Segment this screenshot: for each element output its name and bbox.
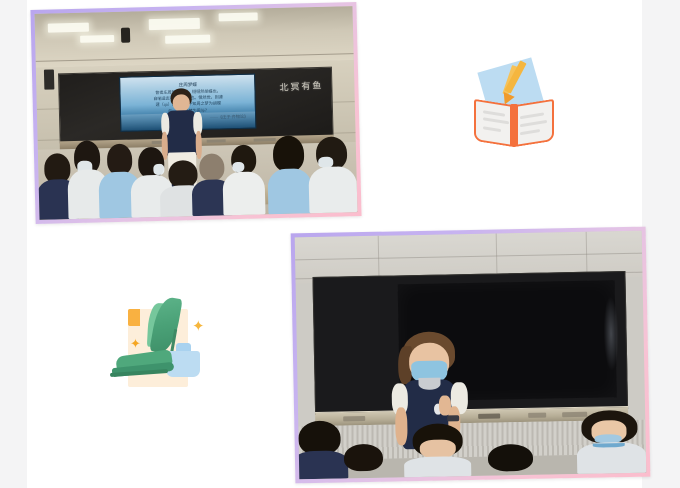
page-line [520,129,540,135]
student-torso [404,456,471,477]
page-line [520,120,547,127]
page-line [483,126,501,132]
student-head [199,154,224,182]
sparkle-icon: ✦ [130,337,141,350]
student-torso [223,171,265,215]
student-figure [222,144,265,215]
page-line [520,112,544,119]
chalk-handwriting: 北冥有鱼 [279,78,324,94]
student-head [488,443,533,471]
photo-teacher-closeup-image [295,231,647,480]
ceiling-light [80,35,115,43]
student-head [344,444,383,472]
decor-book-pencil-illustration: ✦ ✦ ✦ [470,58,560,163]
teacher-watch [448,415,460,421]
student-figure-foreground [479,443,542,476]
student-torso [309,166,358,213]
tray-marker [528,412,547,418]
student-head [106,143,132,175]
student-figure-foreground [576,410,647,474]
student-torso [267,168,313,214]
teacher-head [172,94,190,111]
page-line [483,110,505,116]
photo-teacher-closeup[interactable] [291,227,651,484]
student-head [273,135,305,172]
tray-label [478,413,500,419]
student-head [298,420,341,454]
book-center-dot [510,138,518,146]
ceiling-light [165,34,210,43]
ceiling-camera [121,28,131,43]
collage-page: 北冥有鱼 庄周梦蝶 昔者庄周梦为胡蝶，栩栩然胡蝶也， 自喻适志与！不知周也。俄然… [0,0,680,488]
ceiling-light [149,18,200,30]
paper-tab-shape [128,309,140,326]
tray-object [206,139,225,143]
teacher-collar [419,378,441,390]
student-figure [308,136,358,213]
student-figure-foreground [402,423,472,478]
student-figure [267,135,313,214]
ceiling-light [219,13,257,22]
tray-marker [344,416,366,422]
wall-speaker [44,69,55,90]
board-edge-glare [603,297,620,372]
interactive-whiteboard [313,271,628,415]
book-page-right [514,99,554,147]
photo-classroom-wide-image: 北冥有鱼 庄周梦蝶 昔者庄周梦为胡蝶，栩栩然胡蝶也， 自喻适志与！不知周也。俄然… [35,6,358,220]
face-mask [232,162,245,173]
book-page-left [474,99,514,147]
photo-classroom-wide[interactable]: 北冥有鱼 庄周梦蝶 昔者庄周梦为胡蝶，栩栩然胡蝶也， 自喻适志与！不知周也。俄然… [30,2,361,224]
ceiling-light [47,23,89,32]
student-figure-foreground [337,444,390,479]
sparkle-icon: ✦ [192,319,205,334]
page-line [483,117,509,124]
decor-quill-stapler-illustration: ✦ ✦ [110,295,215,400]
